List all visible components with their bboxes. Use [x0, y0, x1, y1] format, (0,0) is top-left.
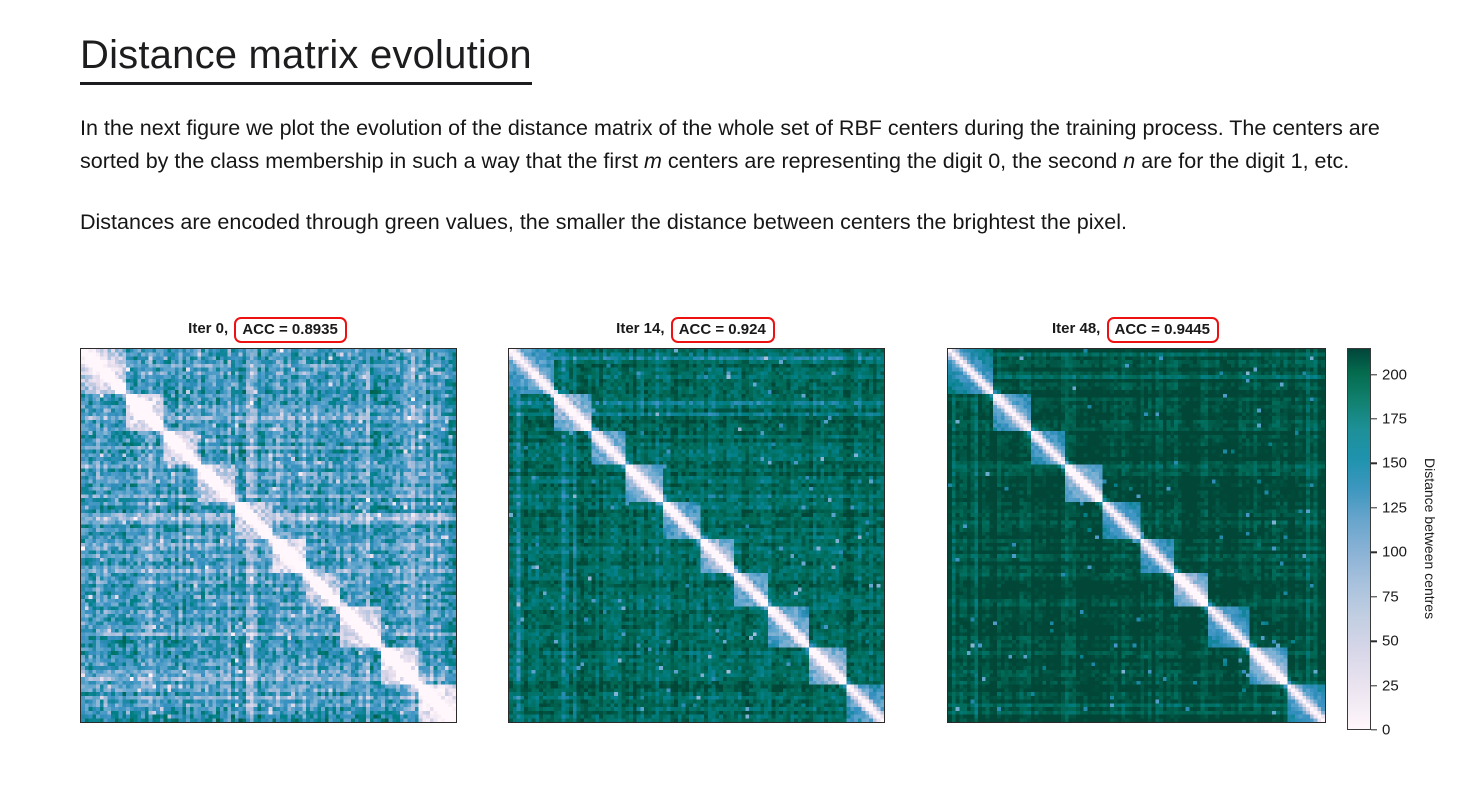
page-title: Distance matrix evolution	[80, 32, 532, 85]
accuracy-annotation-box: ACC = 0.924	[671, 317, 775, 343]
colorbar-tick-mark	[1371, 374, 1377, 375]
distance-matrix-image-iter-0	[81, 349, 456, 722]
accuracy-annotation-box: ACC = 0.9445	[1107, 317, 1219, 343]
iteration-label: Iter 14,	[616, 320, 669, 337]
y-tick-mark	[80, 572, 81, 573]
colorbar-gradient	[1347, 348, 1371, 730]
colorbar-tick-label: 150	[1382, 455, 1407, 472]
colorbar-tick-label: 100	[1382, 544, 1407, 561]
y-tick-mark	[508, 348, 509, 349]
plot-area-iter-0: 020406080020406080	[80, 348, 457, 723]
x-tick-mark	[80, 722, 81, 723]
x-tick-mark	[508, 722, 509, 723]
text-run: centers are representing the digit 0, th…	[662, 149, 1123, 173]
distance-matrix-image-iter-48	[948, 349, 1325, 722]
x-tick-mark	[1023, 722, 1024, 723]
y-tick-mark	[508, 647, 509, 648]
colorbar: 0255075100125150175200	[1347, 348, 1371, 730]
plot-area-iter-48: 020406080020406080	[947, 348, 1326, 723]
x-tick-mark	[305, 722, 306, 723]
x-tick-mark	[947, 722, 948, 723]
text-run: are for the digit 1, etc.	[1135, 149, 1349, 173]
y-tick-mark	[947, 348, 948, 349]
iteration-label: Iter 0,	[188, 320, 232, 337]
y-tick-mark	[947, 498, 948, 499]
x-tick-mark	[1249, 722, 1250, 723]
panel-title-iter-48: Iter 48, ACC = 0.9445	[947, 318, 1324, 340]
y-tick-mark	[80, 647, 81, 648]
colorbar-tick-label: 200	[1382, 366, 1407, 383]
heatmap-panel-iter-48: Iter 48, ACC = 0.9445020406080020406080	[947, 318, 1324, 785]
x-tick-mark	[808, 722, 809, 723]
colorbar-tick-mark	[1371, 418, 1377, 419]
colorbar-tick-label: 25	[1382, 677, 1399, 694]
y-tick-mark	[80, 348, 81, 349]
x-tick-mark	[1098, 722, 1099, 723]
x-tick-mark	[583, 722, 584, 723]
colorbar-tick-label: 175	[1382, 411, 1407, 428]
colorbar-axis-label: Distance between centres	[1420, 348, 1440, 730]
colorbar-tick-label: 125	[1382, 499, 1407, 516]
heatmap-panel-iter-14: Iter 14, ACC = 0.924020406080020406080	[508, 318, 883, 785]
distance-matrix-image-iter-14	[509, 349, 884, 722]
colorbar-tick-mark	[1371, 729, 1377, 730]
colorbar-tick-mark	[1371, 507, 1377, 508]
paragraph-1: In the next figure we plot the evolution…	[80, 112, 1390, 178]
colorbar-tick-mark	[1371, 640, 1377, 641]
y-tick-mark	[508, 572, 509, 573]
colorbar-tick-mark	[1371, 552, 1377, 553]
panel-title-iter-14: Iter 14, ACC = 0.924	[508, 318, 883, 340]
y-tick-mark	[80, 423, 81, 424]
y-tick-mark	[508, 423, 509, 424]
slide-body-text: In the next figure we plot the evolution…	[80, 112, 1390, 239]
colorbar-tick-mark	[1371, 685, 1377, 686]
y-tick-mark	[947, 423, 948, 424]
emphasised-term: m	[644, 149, 662, 173]
paragraph-2: Distances are encoded through green valu…	[80, 206, 1390, 239]
colorbar-label-text: Distance between centres	[1422, 458, 1438, 619]
x-tick-mark	[230, 722, 231, 723]
x-tick-mark	[658, 722, 659, 723]
x-tick-mark	[380, 722, 381, 723]
colorbar-tick-label: 50	[1382, 633, 1399, 650]
plot-area-iter-14: 020406080020406080	[508, 348, 885, 723]
panel-title-iter-0: Iter 0, ACC = 0.8935	[80, 318, 455, 340]
emphasised-term: n	[1123, 149, 1135, 173]
iteration-label: Iter 48,	[1052, 320, 1105, 337]
x-tick-mark	[155, 722, 156, 723]
heatmap-panel-iter-0: Iter 0, ACC = 0.8935020406080020406080	[80, 318, 455, 785]
x-tick-mark	[733, 722, 734, 723]
y-tick-mark	[947, 647, 948, 648]
colorbar-tick-mark	[1371, 596, 1377, 597]
y-tick-mark	[508, 498, 509, 499]
y-tick-mark	[947, 572, 948, 573]
colorbar-tick-mark	[1371, 463, 1377, 464]
y-tick-mark	[80, 498, 81, 499]
accuracy-annotation-box: ACC = 0.8935	[234, 317, 346, 343]
colorbar-tick-label: 75	[1382, 588, 1399, 605]
distance-matrix-figure: Iter 0, ACC = 0.8935020406080020406080It…	[0, 318, 1474, 785]
colorbar-tick-label: 0	[1382, 722, 1390, 739]
x-tick-mark	[1174, 722, 1175, 723]
